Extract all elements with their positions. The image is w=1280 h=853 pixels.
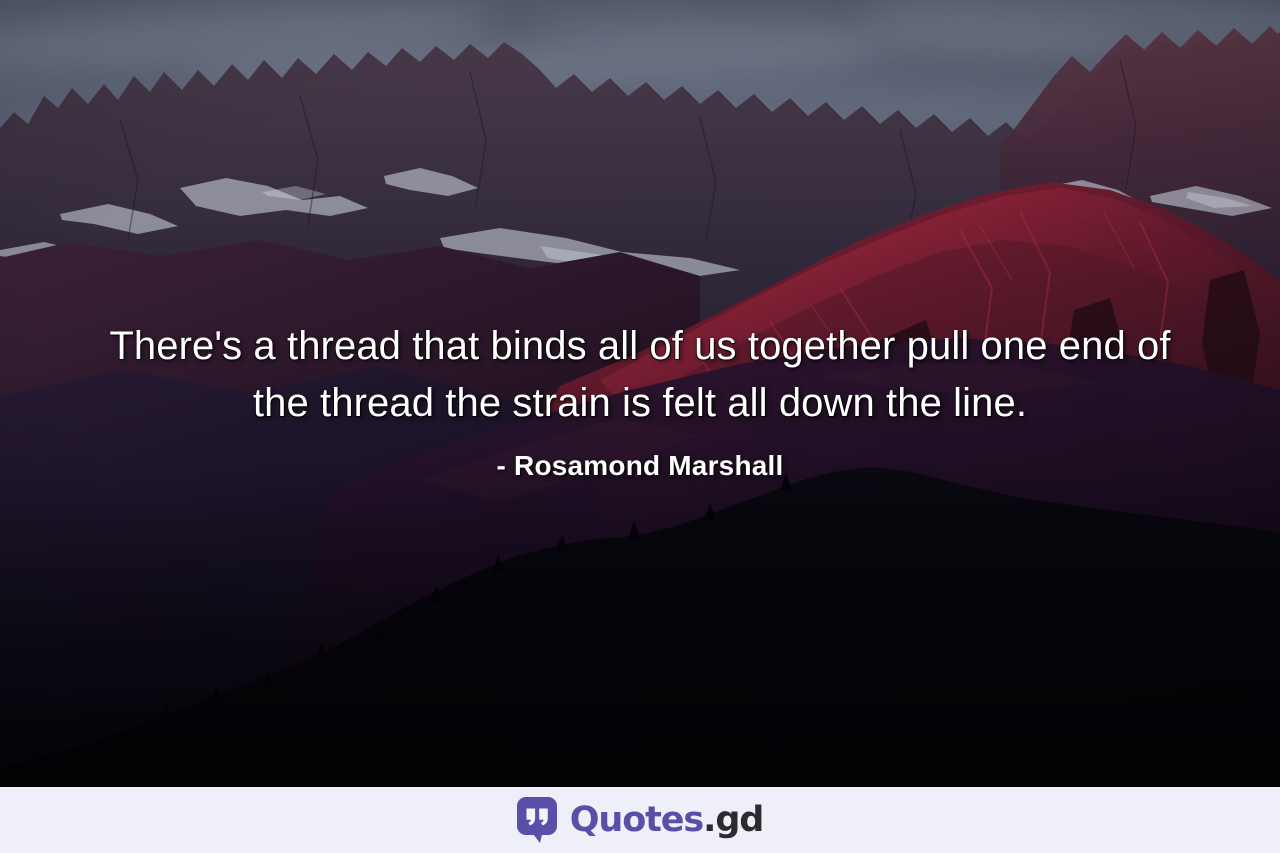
brand-logo-link[interactable]: Quotes.gd <box>517 797 764 843</box>
brand-name-suffix: .gd <box>703 800 763 840</box>
quote-bubble-icon <box>517 797 559 843</box>
quote-text: There's a thread that binds all of us to… <box>96 318 1184 432</box>
quote-image-page: There's a thread that binds all of us to… <box>0 0 1280 853</box>
brand-wordmark: Quotes.gd <box>570 803 764 838</box>
quote-block: There's a thread that binds all of us to… <box>0 318 1280 482</box>
foreground-silhouette-layer <box>0 457 1280 787</box>
site-footer: Quotes.gd <box>0 787 1280 853</box>
brand-name-primary: Quotes <box>570 800 703 840</box>
quote-author: - Rosamond Marshall <box>96 450 1184 482</box>
